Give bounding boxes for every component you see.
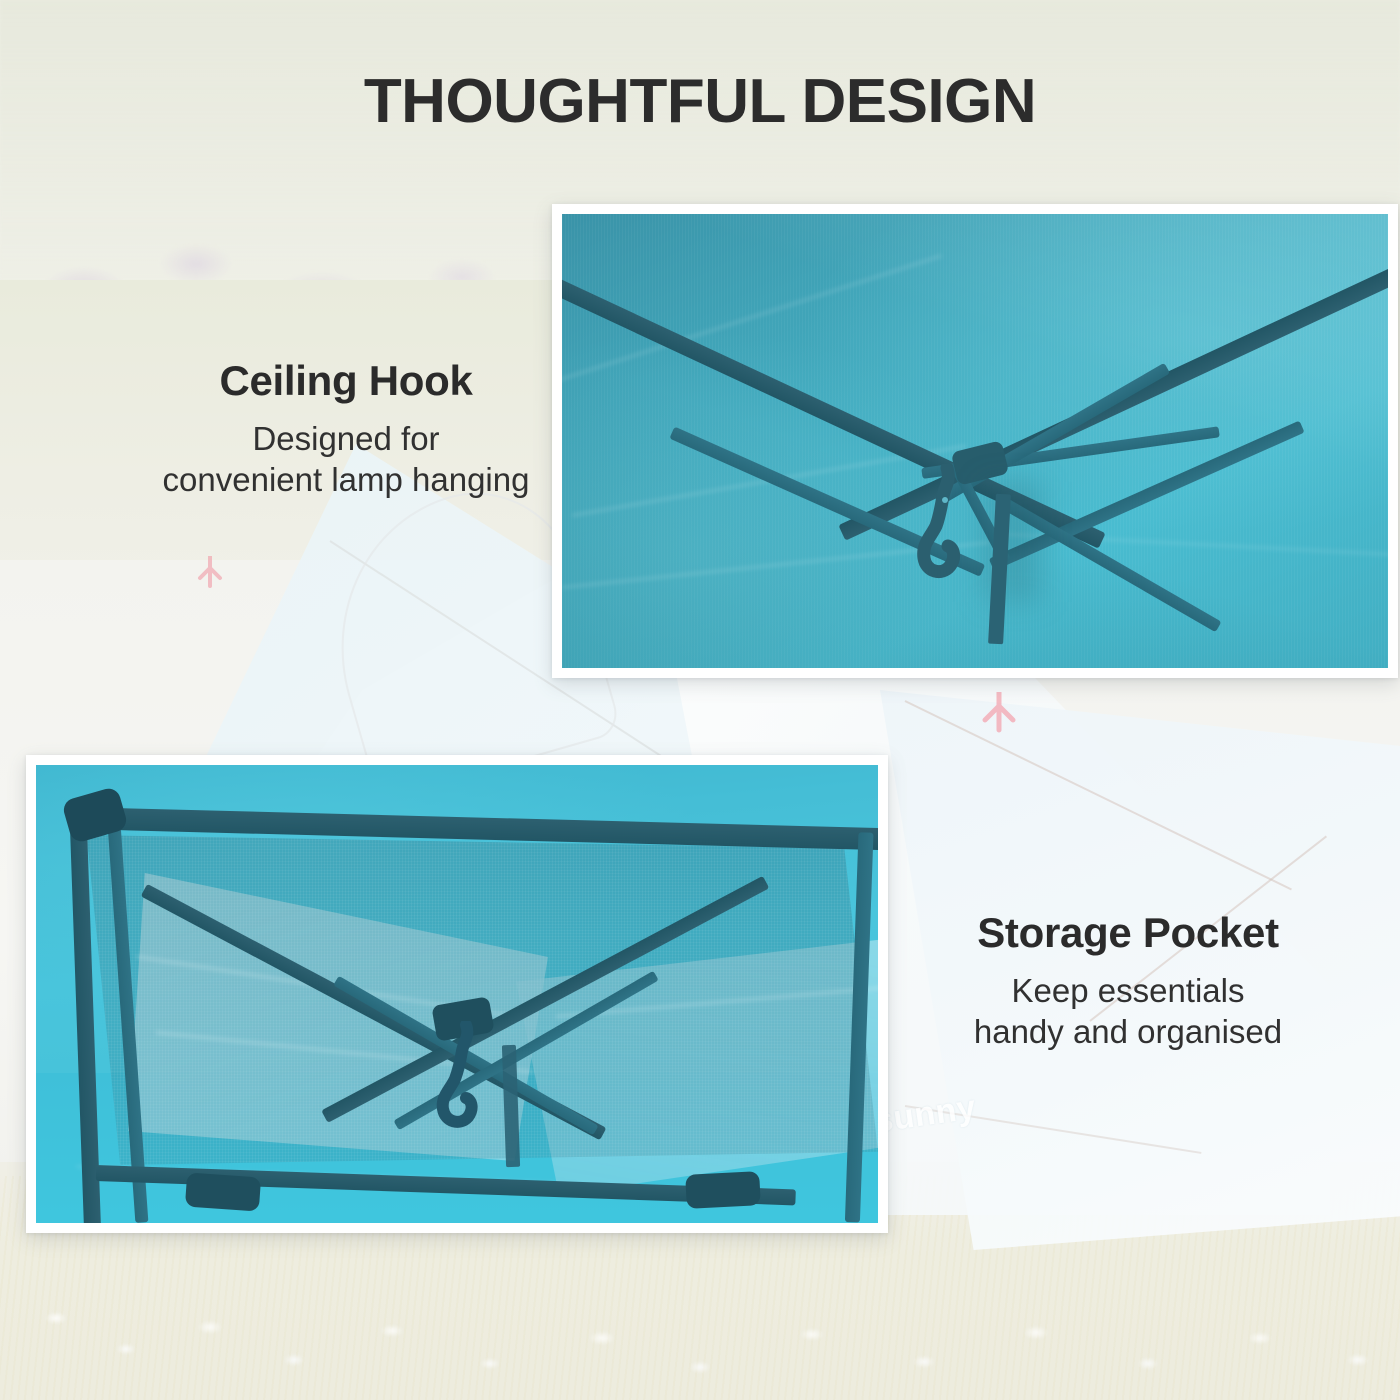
tent-ceiling-fabric	[562, 214, 1388, 668]
page-title: THOUGHTFUL DESIGN	[0, 66, 1400, 137]
tent-interior-fabric	[36, 765, 878, 1223]
photo-ceiling-hook-image	[562, 214, 1388, 668]
marketing-infographic: tsunny THOUGHTFUL DESIGN Ceiling Hook De…	[0, 0, 1400, 1400]
background-wildflowers	[0, 1218, 1400, 1400]
callout-title: Storage Pocket	[868, 910, 1388, 955]
callout-subtitle-line2: handy and organised	[868, 1012, 1388, 1052]
photo-storage-pocket-image	[36, 765, 878, 1223]
guy-line-icon	[196, 556, 224, 590]
pole-foot	[685, 1171, 761, 1209]
photo-card-storage-pocket	[26, 755, 888, 1233]
callout-storage-pocket: Storage Pocket Keep essentials handy and…	[868, 910, 1388, 1052]
callout-subtitle: Keep essentials handy and organised	[868, 971, 1388, 1052]
photo-card-ceiling-hook	[552, 204, 1398, 678]
guy-line-icon	[980, 692, 1018, 734]
hook-icon	[914, 464, 976, 592]
pole-foot	[185, 1172, 261, 1211]
hook-icon	[434, 1021, 494, 1139]
callout-subtitle-line1: Keep essentials	[868, 971, 1388, 1011]
